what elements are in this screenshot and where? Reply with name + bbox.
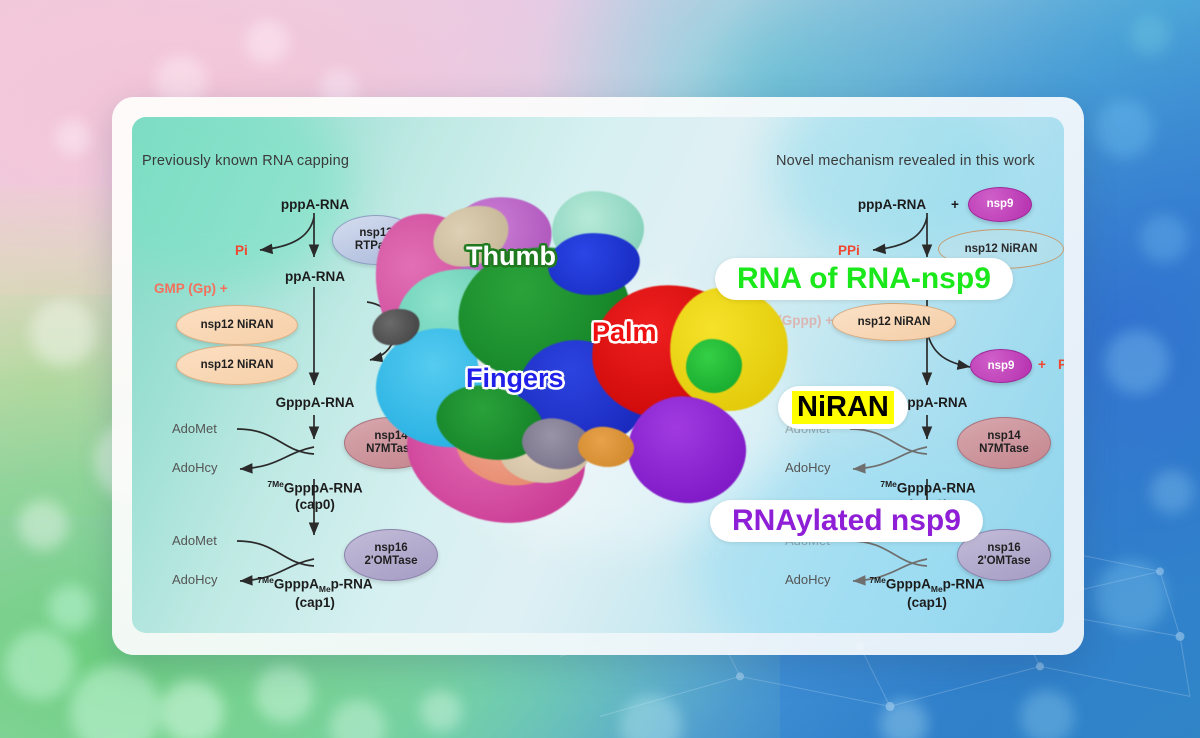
right-node-pppA-RNA: pppA-RNA bbox=[842, 197, 942, 213]
enzyme-nsp12-niran-1: nsp12 NiRAN bbox=[176, 305, 298, 345]
left-cofactor-adohcy-1: AdoHcy bbox=[172, 460, 218, 475]
left-byproduct-gmp: GMP (Gp) + bbox=[154, 281, 228, 296]
right-cofactor-adohcy-2: AdoHcy bbox=[785, 572, 831, 587]
left-pathway-title: Previously known RNA capping bbox=[142, 153, 349, 169]
enzyme-line1: nsp14 bbox=[987, 430, 1020, 443]
subunit-green-bright bbox=[686, 339, 742, 393]
enzyme-line1: nsp12 NiRAN bbox=[201, 319, 274, 332]
enzyme-line1: nsp12 NiRAN bbox=[965, 243, 1038, 256]
overlay-niran: NiRAN bbox=[778, 386, 908, 429]
bokeh-dot bbox=[1095, 100, 1153, 158]
structure-label-fingers: Fingers bbox=[466, 363, 564, 394]
enzyme-nsp14-n7mtase-right: nsp14 N7MTase bbox=[957, 417, 1051, 469]
enzyme-line1: nsp12 NiRAN bbox=[201, 359, 274, 372]
left-node-cap0: 7MeGpppA-RNA (cap0) bbox=[252, 479, 378, 513]
left-cofactor-adomet-1: AdoMet bbox=[172, 421, 217, 436]
cap1-main-a: GpppA bbox=[886, 577, 931, 592]
enzyme-nsp16-2omtase: nsp16 2'OMTase bbox=[344, 529, 438, 581]
cap1-main-a: GpppA bbox=[274, 577, 319, 592]
right-cofactor-adohcy-1: AdoHcy bbox=[785, 460, 831, 475]
bokeh-dot bbox=[1095, 560, 1167, 632]
enzyme-line2: 2'OMTase bbox=[977, 555, 1030, 568]
enzyme-line2: N7MTase bbox=[979, 443, 1029, 456]
enzyme-nsp9-mid: nsp9 bbox=[970, 349, 1032, 383]
left-node-ppA-RNA: ppA-RNA bbox=[268, 269, 362, 285]
left-node-GpppA-RNA: GpppA-RNA bbox=[260, 395, 370, 411]
bokeh-dot bbox=[18, 500, 68, 550]
sub-me: Me bbox=[931, 584, 943, 594]
cap1-label: (cap1) bbox=[242, 595, 388, 611]
bokeh-dot bbox=[160, 680, 224, 738]
sup-7me: 7Me bbox=[267, 479, 284, 489]
bokeh-dot bbox=[245, 20, 289, 64]
overlay-rna-of-rna-nsp9: RNA of RNA-nsp9 bbox=[715, 258, 1013, 300]
bokeh-dot bbox=[1150, 470, 1194, 514]
sup-7me: 7Me bbox=[257, 575, 274, 585]
left-node-cap1: 7MeGpppAMep-RNA (cap1) bbox=[242, 575, 388, 611]
overlay-rnaylated-nsp9: RNAylated nsp9 bbox=[710, 500, 983, 542]
cap1-label: (cap1) bbox=[854, 595, 1000, 611]
bokeh-dot bbox=[255, 665, 313, 723]
cap0-main: GpppA-RNA bbox=[284, 481, 363, 496]
bokeh-dot bbox=[5, 630, 75, 700]
right-node-cap1: 7MeGpppAMep-RNA (cap1) bbox=[854, 575, 1000, 611]
left-cofactor-adohcy-2: AdoHcy bbox=[172, 572, 218, 587]
cap0-label: (cap0) bbox=[252, 497, 378, 513]
bokeh-dot bbox=[1130, 15, 1170, 55]
cryoem-structure-image: Thumb Palm Fingers bbox=[370, 189, 790, 529]
enzyme-nsp12-niran-right-2: nsp12 NiRAN bbox=[832, 303, 956, 341]
bokeh-dot bbox=[30, 300, 96, 366]
cap0-main: GpppA-RNA bbox=[897, 481, 976, 496]
enzyme-line1: nsp9 bbox=[988, 360, 1015, 373]
left-byproduct-pi: Pi bbox=[235, 243, 248, 258]
cap1-main-b: p-RNA bbox=[331, 577, 373, 592]
bokeh-dot bbox=[420, 690, 462, 732]
sup-7me: 7Me bbox=[869, 575, 886, 585]
cap1-main-b: p-RNA bbox=[943, 577, 985, 592]
right-pathway-title: Novel mechanism revealed in this work bbox=[776, 153, 1035, 169]
left-node-pppA-RNA: pppA-RNA bbox=[265, 197, 365, 213]
enzyme-nsp12-niran-2: nsp12 NiRAN bbox=[176, 345, 298, 385]
figure-panel: Previously known RNA capping pppA-RNA Pi… bbox=[132, 117, 1064, 633]
bokeh-dot bbox=[1140, 215, 1188, 263]
bokeh-dot bbox=[55, 120, 91, 156]
enzyme-nsp9-top: nsp9 bbox=[968, 187, 1032, 222]
left-cofactor-adomet-2: AdoMet bbox=[172, 533, 217, 548]
enzyme-line1: nsp16 bbox=[374, 542, 407, 555]
enzyme-line1: nsp16 bbox=[987, 542, 1020, 555]
bokeh-dot bbox=[1020, 690, 1074, 738]
enzyme-line1: nsp9 bbox=[987, 198, 1014, 211]
right-plus-1: + bbox=[948, 197, 962, 213]
structure-label-thumb: Thumb bbox=[466, 241, 556, 272]
enzyme-line1: nsp12 NiRAN bbox=[858, 316, 931, 329]
structure-label-palm: Palm bbox=[592, 317, 657, 348]
right-plus-2: + bbox=[1038, 357, 1046, 372]
bokeh-dot bbox=[1105, 330, 1169, 394]
right-byproduct-ppi: PPi bbox=[838, 243, 860, 258]
enzyme-line2: 2'OMTase bbox=[364, 555, 417, 568]
sup-7me: 7Me bbox=[880, 479, 897, 489]
right-byproduct-pi: Pi bbox=[1058, 357, 1064, 372]
overlay-niran-text: NiRAN bbox=[792, 391, 894, 424]
bokeh-dot bbox=[48, 585, 94, 631]
sub-me: Me bbox=[319, 584, 331, 594]
